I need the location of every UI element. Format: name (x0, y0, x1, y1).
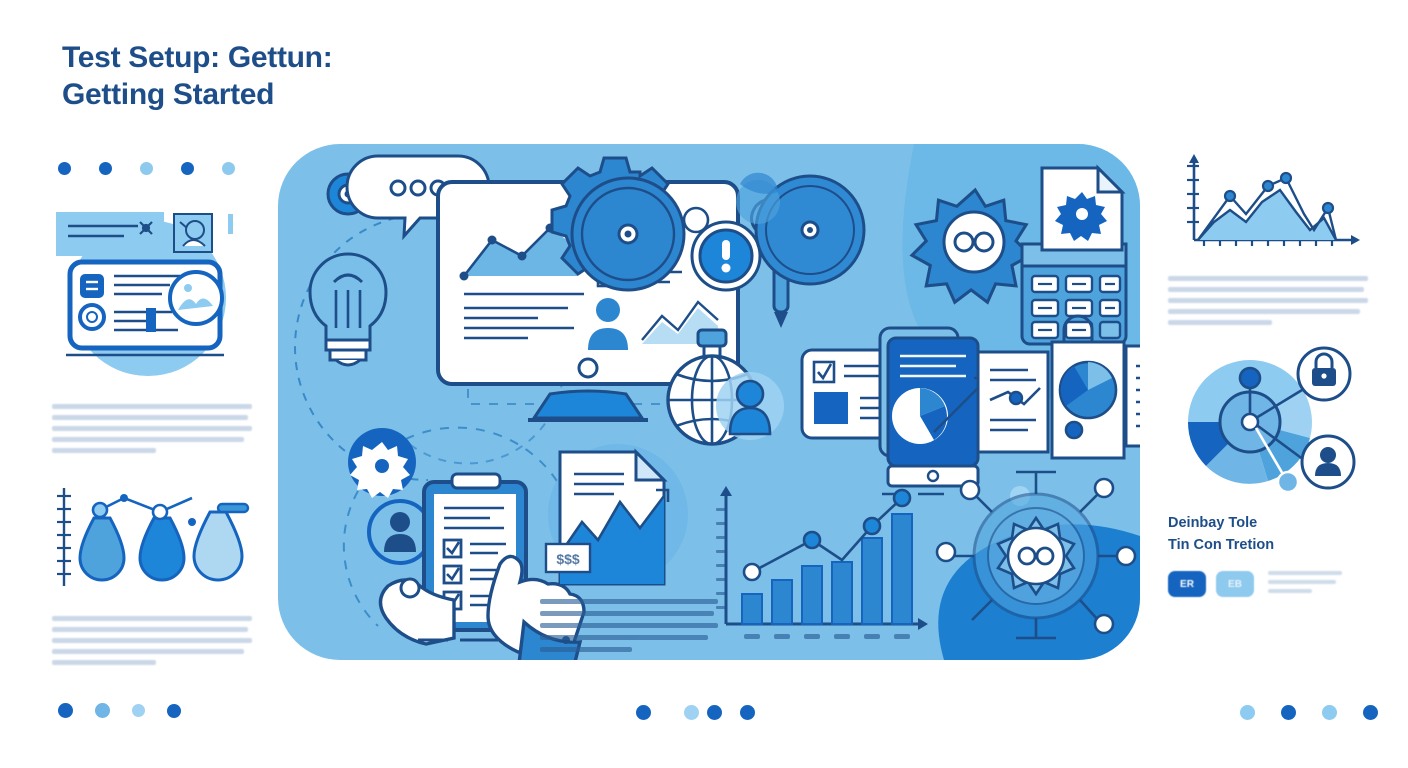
decorative-dot (58, 162, 71, 175)
info-heading-line-2: Tin Con Tretion (1168, 534, 1368, 556)
decorative-dot (707, 705, 722, 720)
alert-icon (692, 222, 760, 290)
decorative-dot (740, 705, 755, 720)
decorative-dot (1322, 705, 1337, 720)
svg-text:$$$: $$$ (556, 551, 580, 567)
decorative-dot (99, 162, 112, 175)
right-pie-diagram (1168, 332, 1368, 492)
decorative-dot (1240, 705, 1255, 720)
page-title-line-2: Getting Started (62, 77, 332, 114)
page-title-line-1: Test Setup: Gettun: (62, 41, 332, 74)
lock-icon (1298, 348, 1350, 400)
decorative-dot (636, 705, 651, 720)
right-column-pie-block (1168, 332, 1368, 492)
right-column-area-chart-block (1168, 152, 1368, 331)
dot-row-bottom-right (1240, 705, 1378, 720)
dot-row-bottom-center (636, 705, 755, 720)
hero-illustration-panel: $$$ (278, 144, 1140, 660)
info-heading-line-1: Deinbay Tole (1168, 512, 1368, 534)
decorative-dot (58, 703, 73, 718)
hero-artwork: $$$ (278, 144, 1140, 660)
left-flask-caption (52, 616, 252, 665)
calculator-icon (1022, 244, 1126, 344)
lightbulb-icon (310, 254, 386, 365)
decorative-dot (167, 704, 181, 718)
bar-line-chart (716, 486, 928, 639)
user-icon (1302, 436, 1354, 488)
gear-document (1042, 168, 1122, 250)
flask-chart-illustration (52, 482, 252, 602)
info-badges: ER EB (1168, 571, 1368, 598)
right-area-chart-caption (1168, 276, 1368, 325)
decorative-dot (684, 705, 699, 720)
dot-row-top-left (58, 162, 235, 175)
document-chart: $$$ (546, 444, 688, 584)
decorative-dot (95, 703, 110, 718)
decorative-dot (222, 162, 235, 175)
decorative-dot (1281, 705, 1296, 720)
page-root: Test Setup: Gettun: Getting Started (0, 0, 1408, 768)
right-column-info-block: Deinbay Tole Tin Con Tretion ER EB (1168, 512, 1368, 598)
right-area-chart (1168, 152, 1368, 262)
info-heading: Deinbay Tole Tin Con Tretion (1168, 512, 1368, 557)
info-badge-note (1268, 571, 1342, 598)
dot-row-bottom-left (58, 703, 181, 718)
page-title: Test Setup: Gettun: Getting Started (62, 40, 332, 113)
user-badge (369, 501, 431, 563)
tablet-device-illustration (52, 200, 252, 390)
gear-badge (348, 428, 416, 498)
decorative-dot (1363, 705, 1378, 720)
left-column-tablet-block (52, 200, 252, 459)
decorative-dot (181, 162, 194, 175)
mobile-pie-chart (880, 328, 986, 494)
badge-eb[interactable]: EB (1216, 571, 1254, 597)
decorative-dot (140, 162, 153, 175)
left-tablet-caption (52, 404, 252, 453)
left-column-flask-block (52, 482, 252, 671)
person-icon (716, 372, 784, 440)
magnifier-image-icon (170, 272, 222, 324)
decorative-dot (132, 704, 145, 717)
badge-er[interactable]: ER (1168, 571, 1206, 597)
